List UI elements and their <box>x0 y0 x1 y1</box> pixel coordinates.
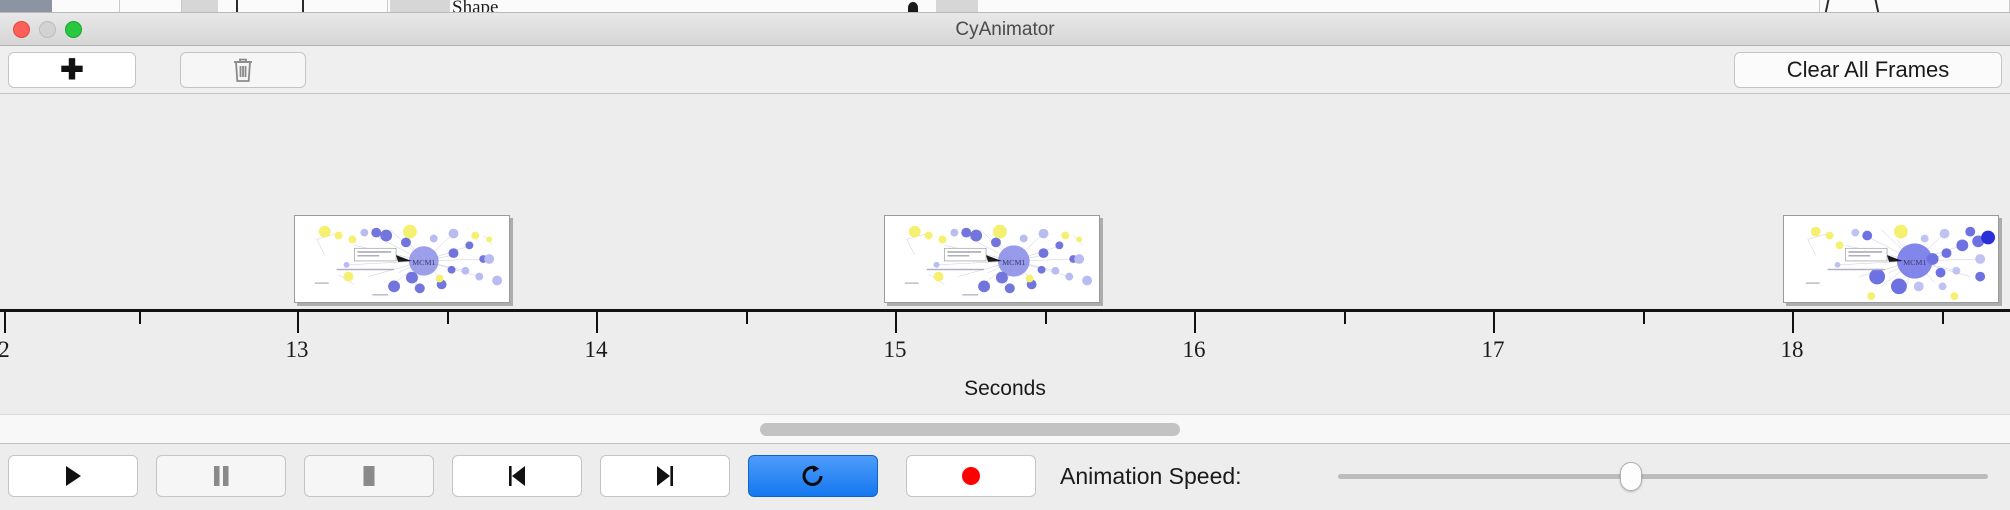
scrollbar-thumb[interactable] <box>760 423 1180 436</box>
network-thumbnail-icon: MCM1 <box>885 216 1099 302</box>
background-cell <box>316 0 388 13</box>
toolbar: ✚ Clear All Frames <box>0 46 2010 94</box>
timeline-axis: 2 13 14 15 16 17 18 Seconds <box>0 309 2010 414</box>
background-shape-label: Shape <box>452 0 498 13</box>
record-icon <box>960 465 982 487</box>
axis-minor-tick <box>447 312 449 324</box>
svg-text:MCM1: MCM1 <box>1002 258 1025 267</box>
axis-tick-label: 17 <box>1482 337 1505 363</box>
axis-tick-label: 16 <box>1183 337 1206 363</box>
axis-major-tick <box>1493 312 1495 333</box>
background-cell <box>1900 0 2010 13</box>
pause-button[interactable] <box>156 455 286 497</box>
background-tick <box>1825 0 1830 13</box>
axis-major-tick <box>4 312 6 333</box>
axis-minor-tick <box>1045 312 1047 324</box>
axis-major-tick <box>1194 312 1196 333</box>
play-icon <box>63 465 83 487</box>
frame-thumbnail[interactable]: MCM1 <box>884 215 1100 303</box>
background-cell <box>120 0 182 13</box>
record-button[interactable] <box>906 455 1036 497</box>
axis-minor-tick <box>1942 312 1944 324</box>
minimize-button-icon[interactable] <box>39 21 56 38</box>
plus-icon: ✚ <box>60 56 83 84</box>
frame-thumbnail[interactable]: MCM1 <box>294 215 510 303</box>
cyanimator-window: Shape CyAnimator ✚ <box>0 0 2010 510</box>
skip-back-button[interactable] <box>452 455 582 497</box>
background-tick <box>302 0 304 13</box>
axis-major-tick <box>297 312 299 333</box>
window-title: CyAnimator <box>0 13 2010 46</box>
svg-text:MCM1: MCM1 <box>1903 258 1926 267</box>
background-window-strip: Shape <box>0 0 2010 13</box>
background-cell <box>182 0 218 13</box>
frame-thumbnail[interactable]: MCM1 <box>1783 215 1999 303</box>
axis-minor-tick <box>746 312 748 324</box>
clear-all-frames-button[interactable]: Clear All Frames <box>1734 52 2002 88</box>
animation-speed-label: Animation Speed: <box>1060 455 1242 497</box>
loop-button[interactable] <box>748 455 878 497</box>
delete-frame-button[interactable] <box>180 52 306 88</box>
axis-tick-label: 18 <box>1781 337 1804 363</box>
background-cell <box>936 0 978 13</box>
skip-forward-button[interactable] <box>600 455 730 497</box>
axis-major-tick <box>596 312 598 333</box>
animation-speed-slider-thumb[interactable] <box>1620 462 1642 491</box>
play-button[interactable] <box>8 455 138 497</box>
axis-tick-label: 2 <box>0 337 10 363</box>
pause-icon <box>211 465 231 487</box>
clear-all-frames-label: Clear All Frames <box>1787 57 1950 83</box>
axis-tick-label: 13 <box>286 337 309 363</box>
background-tick <box>236 0 238 13</box>
window-controls <box>13 21 82 38</box>
zoom-button-icon[interactable] <box>65 21 82 38</box>
background-toolbar-chip <box>0 0 52 13</box>
close-button-icon[interactable] <box>13 21 30 38</box>
timeline-track[interactable]: MCM1 <box>0 94 2010 315</box>
skip-forward-icon <box>653 465 677 487</box>
background-blob <box>908 2 918 13</box>
axis-tick-label: 14 <box>585 337 608 363</box>
axis-title: Seconds <box>0 377 2010 401</box>
axis-line <box>0 309 2010 312</box>
network-thumbnail-icon: MCM1 <box>1784 216 1998 302</box>
loop-icon <box>800 463 826 489</box>
axis-tick-label: 15 <box>884 337 907 363</box>
animation-speed-slider[interactable] <box>1338 474 1988 479</box>
title-bar: CyAnimator <box>0 13 2010 46</box>
axis-major-tick <box>1792 312 1794 333</box>
axis-minor-tick <box>1344 312 1346 324</box>
stop-icon <box>359 465 379 487</box>
axis-minor-tick <box>1643 312 1645 324</box>
axis-major-tick <box>895 312 897 333</box>
add-frame-button[interactable]: ✚ <box>8 52 136 88</box>
background-tick <box>1875 0 1880 13</box>
background-cell <box>52 0 120 13</box>
trash-icon <box>231 56 255 84</box>
stop-button[interactable] <box>304 455 434 497</box>
axis-minor-tick <box>139 312 141 324</box>
network-thumbnail-icon: MCM1 <box>295 216 509 302</box>
timeline-scrollbar[interactable] <box>0 414 2010 444</box>
skip-back-icon <box>505 465 529 487</box>
background-cell <box>1000 0 1820 13</box>
svg-text:MCM1: MCM1 <box>412 258 435 267</box>
transport-bar: Animation Speed: <box>0 445 2010 510</box>
background-cell <box>390 0 450 13</box>
